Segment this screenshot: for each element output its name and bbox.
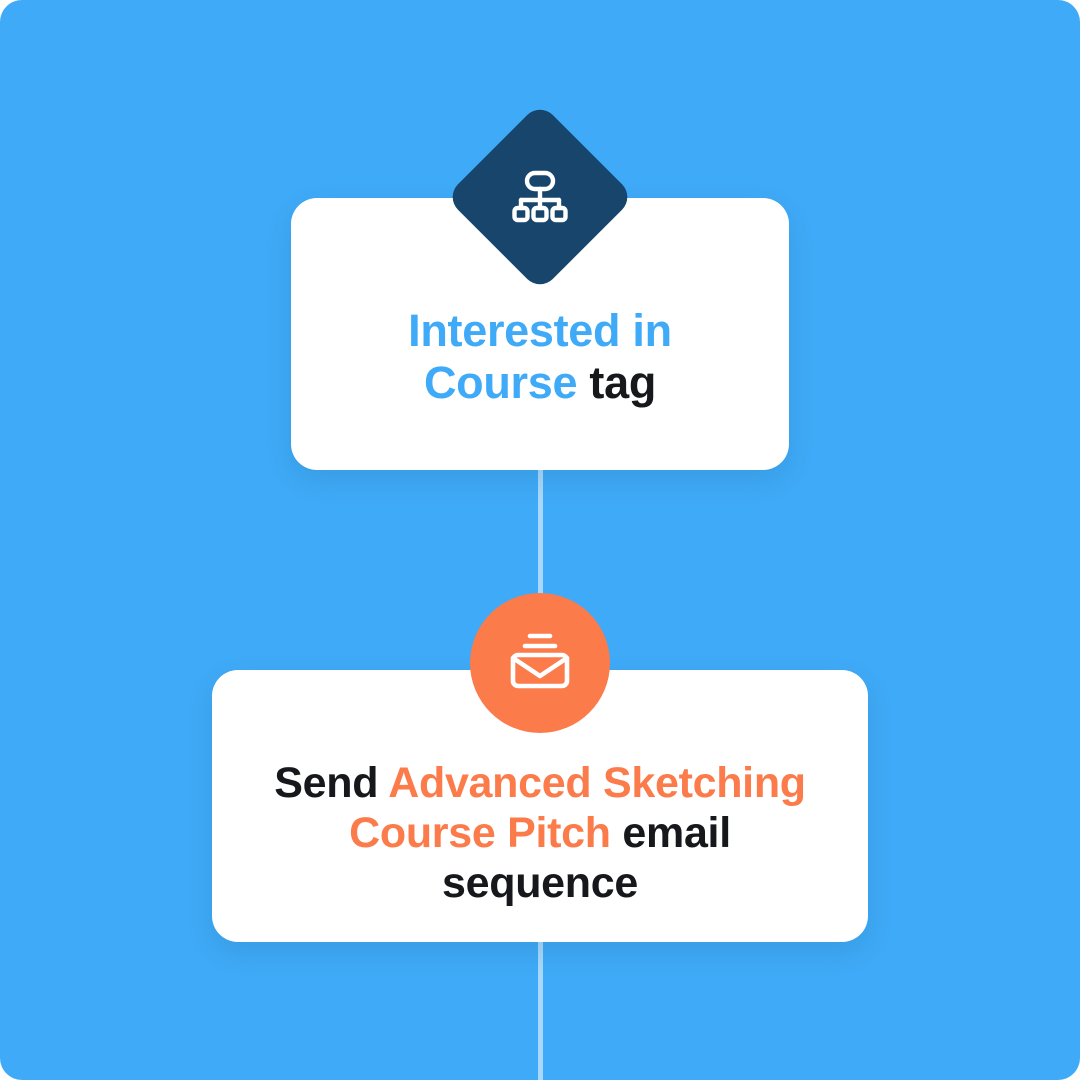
trigger-label-suffix: tag — [577, 357, 656, 408]
trigger-node-label: Interested in Course tag — [331, 305, 749, 409]
connector-action-to-next — [538, 930, 543, 1080]
action-node-label: Send Advanced Sketching Course Pitch ema… — [246, 759, 834, 909]
automation-flow-canvas: Interested in Course tag Send Advanced S… — [0, 0, 1080, 1080]
action-label-highlight: Advanced Sketching Course Pitch — [349, 759, 806, 857]
action-badge[interactable] — [470, 593, 610, 733]
sitemap-icon — [511, 170, 569, 224]
action-label-prefix: Send — [274, 759, 388, 807]
email-sequence-icon — [509, 632, 571, 695]
